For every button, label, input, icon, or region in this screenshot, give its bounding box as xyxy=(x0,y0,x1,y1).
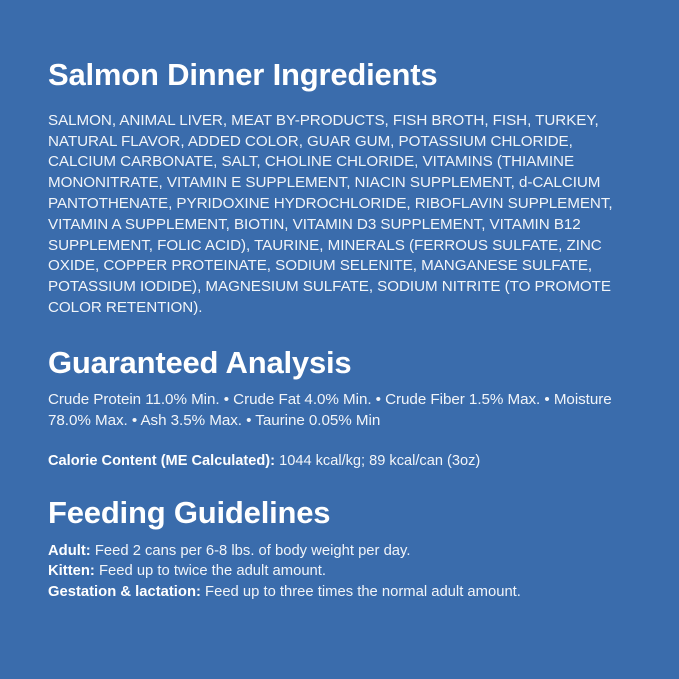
feeding-guidelines-heading: Feeding Guidelines xyxy=(48,496,631,531)
ingredients-text: SALMON, ANIMAL LIVER, MEAT BY-PRODUCTS, … xyxy=(48,111,618,319)
feeding-row-adult-text: Feed 2 cans per 6-8 lbs. of body weight … xyxy=(95,543,411,559)
feeding-row-adult: Adult: Feed 2 cans per 6-8 lbs. of body … xyxy=(48,541,631,562)
calorie-content-line: Calorie Content (ME Calculated): 1044 kc… xyxy=(48,451,631,471)
pet-food-label-panel: Salmon Dinner Ingredients SALMON, ANIMAL… xyxy=(0,0,679,679)
calorie-content-label: Calorie Content (ME Calculated): xyxy=(48,453,275,469)
guaranteed-analysis-heading-wrap: Guaranteed Analysis xyxy=(48,346,631,381)
feeding-row-gestation-lactation-text: Feed up to three times the normal adult … xyxy=(205,584,521,600)
ingredients-heading: Salmon Dinner Ingredients xyxy=(48,58,631,93)
feeding-guidelines-heading-wrap: Feeding Guidelines xyxy=(48,496,631,531)
feeding-guidelines-list: Adult: Feed 2 cans per 6-8 lbs. of body … xyxy=(48,541,631,603)
feeding-guidelines-section: Feeding Guidelines Adult: Feed 2 cans pe… xyxy=(48,496,631,602)
feeding-row-kitten-label: Kitten: xyxy=(48,563,95,579)
guaranteed-analysis-section: Guaranteed Analysis Crude Protein 11.0% … xyxy=(48,346,631,471)
feeding-row-adult-label: Adult: xyxy=(48,543,91,559)
feeding-row-kitten: Kitten: Feed up to twice the adult amoun… xyxy=(48,561,631,582)
guaranteed-analysis-heading: Guaranteed Analysis xyxy=(48,346,631,381)
feeding-row-gestation-lactation-label: Gestation & lactation: xyxy=(48,584,201,600)
guaranteed-analysis-text: Crude Protein 11.0% Min. • Crude Fat 4.0… xyxy=(48,390,628,432)
feeding-row-kitten-text: Feed up to twice the adult amount. xyxy=(99,563,326,579)
calorie-content-value: 1044 kcal/kg; 89 kcal/can (3oz) xyxy=(279,453,480,469)
ingredients-section: Salmon Dinner Ingredients SALMON, ANIMAL… xyxy=(48,58,631,319)
feeding-row-gestation-lactation: Gestation & lactation: Feed up to three … xyxy=(48,582,631,603)
